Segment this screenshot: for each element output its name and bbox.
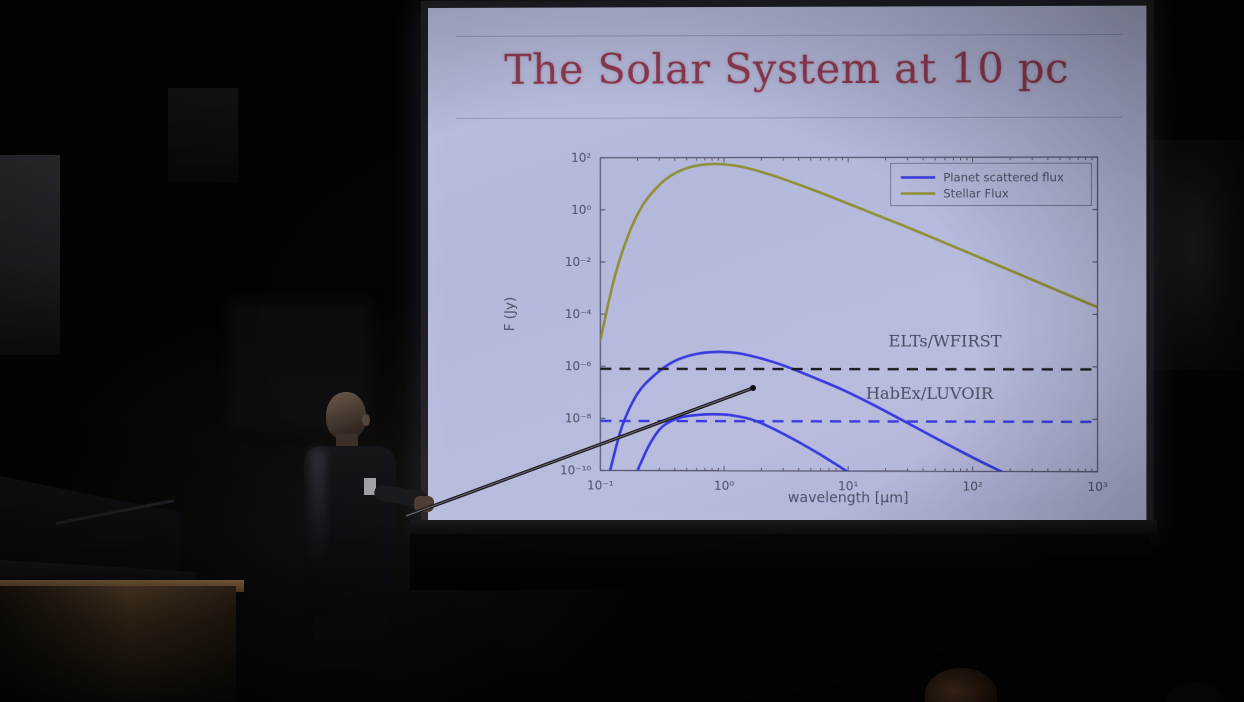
slide-rule-bottom	[456, 117, 1122, 119]
wall-light-panel	[0, 155, 60, 355]
data-series	[600, 163, 1097, 498]
threshold-annotation: HabEx/LUVOIR	[866, 383, 994, 402]
y-tick-label: 10⁻⁸	[565, 411, 592, 425]
y-tick-label: 10⁻²	[565, 255, 592, 269]
y-axis-label: F (Jy)	[502, 297, 518, 332]
wall-panel-upper	[168, 88, 238, 183]
slide-title: The Solar System at 10 pc	[428, 44, 1146, 94]
x-tick-label: 10⁻¹	[587, 478, 614, 492]
projected-slide: The Solar System at 10 pc 10²10⁰10⁻²10⁻⁴…	[428, 6, 1146, 527]
threshold-lines	[600, 369, 1097, 422]
y-tick-label: 10⁰	[571, 203, 591, 217]
y-tick-label: 10²	[571, 151, 591, 165]
screenshot-stage: The Solar System at 10 pc 10²10⁰10⁻²10⁻⁴…	[0, 0, 1244, 702]
series-curve	[610, 352, 1048, 498]
wall-panel-right	[1150, 140, 1244, 370]
presenter-rim-light	[310, 450, 326, 570]
presenter	[296, 392, 426, 702]
x-tick-label: 10²	[963, 479, 984, 493]
legend-label-planet: Planet scattered flux	[943, 170, 1064, 184]
presenter-ear	[362, 414, 370, 426]
slide-rule-top	[456, 34, 1122, 37]
presenter-hand	[414, 496, 434, 512]
y-tick-label: 10⁻⁶	[565, 359, 592, 373]
y-tick-label: 10⁻⁴	[565, 307, 592, 321]
threshold-line	[600, 421, 1097, 422]
x-axis-label: wavelength [μm]	[788, 490, 909, 506]
flux-chart: 10²10⁰10⁻²10⁻⁴10⁻⁶10⁻⁸10⁻¹⁰ 10⁻¹10⁰10¹10…	[480, 135, 1126, 508]
x-tick-label: 10⁰	[714, 479, 734, 493]
y-tick-label: 10⁻¹⁰	[560, 463, 591, 477]
presenter-head	[326, 392, 366, 440]
presenter-legs	[314, 616, 388, 702]
threshold-annotation: ELTs/WFIRST	[889, 331, 1002, 350]
chart-legend: Planet scattered flux Stellar Flux	[891, 163, 1092, 206]
podium-shading	[0, 586, 236, 702]
legend-label-stellar: Stellar Flux	[943, 186, 1009, 200]
flux-chart-svg: 10²10⁰10⁻²10⁻⁴10⁻⁶10⁻⁸10⁻¹⁰ 10⁻¹10⁰10¹10…	[480, 135, 1126, 508]
y-tick-labels: 10²10⁰10⁻²10⁻⁴10⁻⁶10⁻⁸10⁻¹⁰	[560, 151, 591, 478]
threshold-line	[600, 369, 1097, 370]
x-tick-label: 10³	[1087, 480, 1108, 494]
chart-annotations: ELTs/WFIRSTHabEx/LUVOIR	[866, 331, 1002, 403]
stage-backdrop	[410, 534, 1150, 590]
